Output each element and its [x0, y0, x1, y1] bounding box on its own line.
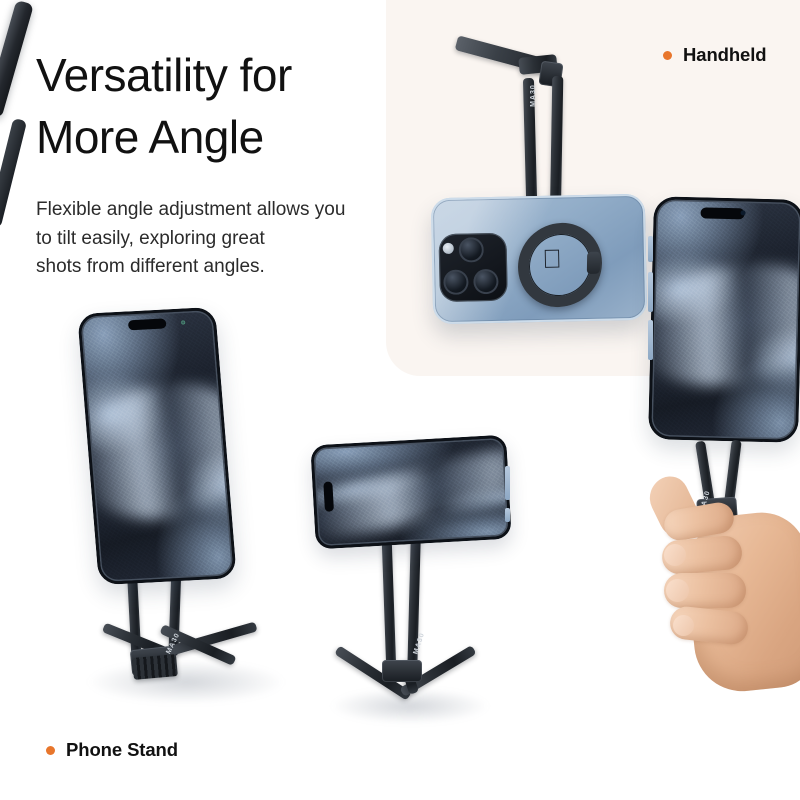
tripod-hub	[382, 660, 422, 682]
bullet-dot-icon	[46, 746, 55, 755]
fingernail	[673, 615, 694, 636]
hand-holding-grip	[646, 470, 800, 710]
volume-button-up	[648, 236, 653, 262]
action-button	[648, 320, 653, 360]
description-text: Flexible angle adjustment allows you to …	[36, 196, 408, 282]
label-phone-stand: Phone Stand	[46, 739, 178, 761]
volume-button-down	[648, 272, 653, 312]
grip-handle-back	[0, 118, 27, 228]
tripod-column-left	[382, 540, 397, 670]
phone-bezel	[648, 196, 800, 443]
phone-landscape-on-tripod	[310, 435, 511, 550]
page-title: Versatility for More Angle	[36, 44, 396, 168]
phone-portrait-on-stand	[77, 307, 237, 585]
brand-logo-arm: MA30	[530, 84, 537, 107]
label-handheld: Handheld	[663, 44, 766, 66]
side-port	[505, 508, 510, 522]
fingernail	[666, 579, 689, 602]
label-handheld-text: Handheld	[683, 44, 766, 66]
phone-bezel	[310, 435, 511, 550]
bullet-dot-icon	[663, 51, 672, 60]
phone-handheld	[648, 196, 800, 443]
power-button	[505, 466, 510, 500]
label-phone-stand-text: Phone Stand	[66, 739, 178, 761]
fingernail	[664, 544, 686, 566]
stand-shadow	[86, 660, 286, 704]
stand-hinge-ribs	[132, 654, 178, 680]
grip-handle-front	[0, 0, 34, 118]
phone-bezel	[77, 307, 237, 585]
